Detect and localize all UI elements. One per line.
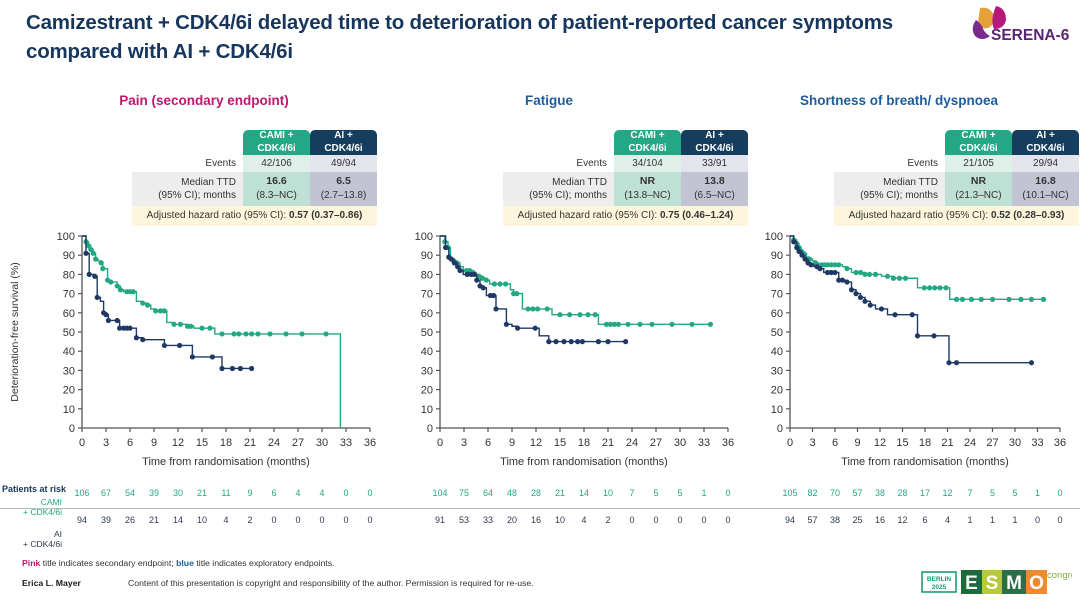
patients-at-risk-heading: Patients at risk <box>2 484 66 494</box>
risk-count: 67 <box>95 488 117 498</box>
svg-text:10: 10 <box>421 404 433 416</box>
median-ttd-label: Median TTD (95% CI); months <box>503 172 614 206</box>
svg-text:congress: congress <box>1047 570 1072 581</box>
km-plot-pain: 0102030405060708090100036912151821242730… <box>0 228 392 478</box>
risk-count: 17 <box>914 488 936 498</box>
svg-text:20: 20 <box>771 385 783 397</box>
risk-table-dyspnoea: 1058270573828171275510 94573825161264111… <box>734 482 1080 534</box>
svg-text:18: 18 <box>919 437 931 449</box>
risk-count: 57 <box>802 515 824 525</box>
panel-title-dyspnoea: Shortness of breath/ dyspnoea <box>726 93 1072 108</box>
risk-count: 0 <box>263 515 285 525</box>
risk-count: 11 <box>215 488 237 498</box>
risk-count: 57 <box>847 488 869 498</box>
stats-table-dyspnoea: CAMI + CDK4/6i AI + CDK4/6i Events 21/10… <box>834 130 1079 226</box>
svg-text:30: 30 <box>316 437 328 449</box>
events-ai: 29/94 <box>1012 155 1079 172</box>
table-corner <box>132 130 243 155</box>
svg-text:80: 80 <box>771 269 783 281</box>
svg-text:80: 80 <box>63 269 75 281</box>
risk-count: 0 <box>1027 515 1049 525</box>
risk-count: 1 <box>1027 488 1049 498</box>
risk-row-ai: 9153332016104200000 <box>378 508 748 534</box>
svg-text:36: 36 <box>364 437 376 449</box>
risk-count: 30 <box>167 488 189 498</box>
svg-text:100: 100 <box>415 231 433 243</box>
svg-text:15: 15 <box>896 437 908 449</box>
risk-count: 1 <box>982 515 1004 525</box>
km-plot-dyspnoea: 0102030405060708090100036912151821242730… <box>734 228 1080 478</box>
svg-text:33: 33 <box>698 437 710 449</box>
page-title: Camizestrant + CDK4/6i delayed time to d… <box>26 8 946 66</box>
header-ai: AI + CDK4/6i <box>310 130 377 155</box>
svg-text:40: 40 <box>421 346 433 358</box>
svg-text:21: 21 <box>602 437 614 449</box>
risk-count: 21 <box>191 488 213 498</box>
svg-text:30: 30 <box>421 365 433 377</box>
risk-count: 0 <box>669 515 691 525</box>
events-cami: 34/104 <box>614 155 681 172</box>
risk-count: 0 <box>311 515 333 525</box>
risk-count: 0 <box>693 515 715 525</box>
risk-count: 106 <box>71 488 93 498</box>
risk-count: 28 <box>892 488 914 498</box>
svg-text:18: 18 <box>220 437 232 449</box>
risk-count: 64 <box>477 488 499 498</box>
svg-text:24: 24 <box>268 437 280 449</box>
svg-text:15: 15 <box>196 437 208 449</box>
risk-count: 9 <box>239 488 261 498</box>
risk-table-fatigue: 1047564482821141075510 91533320161042000… <box>378 482 748 534</box>
events-ai: 49/94 <box>310 155 377 172</box>
svg-text:0: 0 <box>79 437 85 449</box>
table-corner <box>503 130 614 155</box>
svg-text:BERLIN: BERLIN <box>927 576 952 583</box>
svg-text:36: 36 <box>1054 437 1066 449</box>
svg-text:60: 60 <box>771 308 783 320</box>
risk-row-ai: 9457382516126411100 <box>734 508 1080 534</box>
svg-text:2025: 2025 <box>932 584 947 591</box>
median-cami: NR (21.3–NC) <box>945 172 1012 206</box>
svg-text:18: 18 <box>578 437 590 449</box>
esmo-congress-logo: BERLIN 2025 E S M O congress <box>920 566 1072 598</box>
risk-count: 10 <box>597 488 619 498</box>
svg-text:27: 27 <box>650 437 662 449</box>
svg-text:Time from randomisation (month: Time from randomisation (months) <box>841 456 1009 468</box>
risk-count: 6 <box>263 488 285 498</box>
risk-count: 39 <box>95 515 117 525</box>
svg-text:10: 10 <box>771 404 783 416</box>
hazard-ratio-value: 0.75 (0.46–1.24) <box>660 210 733 221</box>
svg-text:0: 0 <box>69 423 75 435</box>
svg-text:3: 3 <box>809 437 815 449</box>
panel-title-fatigue: Fatigue <box>364 93 734 108</box>
author-copyright-line: Erica L. MayerContent of this presentati… <box>22 578 534 588</box>
risk-count: 7 <box>959 488 981 498</box>
footnote-pink-word: Pink <box>22 558 40 568</box>
svg-text:20: 20 <box>63 385 75 397</box>
risk-count: 70 <box>824 488 846 498</box>
risk-count: 5 <box>645 488 667 498</box>
risk-count: 4 <box>215 515 237 525</box>
hazard-ratio-value: 0.52 (0.28–0.93) <box>991 210 1064 221</box>
svg-text:3: 3 <box>103 437 109 449</box>
hazard-ratio-cell: Adjusted hazard ratio (95% CI): 0.52 (0.… <box>834 206 1079 226</box>
footnote-legend: Pink title indicates secondary endpoint;… <box>22 558 334 568</box>
risk-count: 0 <box>645 515 667 525</box>
svg-text:27: 27 <box>986 437 998 449</box>
svg-text:20: 20 <box>421 385 433 397</box>
svg-text:9: 9 <box>151 437 157 449</box>
risk-count: 20 <box>501 515 523 525</box>
median-ai: 6.5 (2.7–13.8) <box>310 172 377 206</box>
header-cami: CAMI + CDK4/6i <box>243 130 310 155</box>
risk-count: 5 <box>982 488 1004 498</box>
risk-count: 0 <box>335 488 357 498</box>
risk-count: 12 <box>892 515 914 525</box>
svg-text:90: 90 <box>421 250 433 262</box>
table-row-hazard-ratio: Adjusted hazard ratio (95% CI): 0.52 (0.… <box>834 206 1079 226</box>
svg-text:Time from randomisation (month: Time from randomisation (months) <box>142 456 310 468</box>
risk-count: 2 <box>239 515 261 525</box>
risk-count: 26 <box>119 515 141 525</box>
stats-table-fatigue: CAMI + CDK4/6i AI + CDK4/6i Events 34/10… <box>503 130 748 226</box>
risk-count: 48 <box>501 488 523 498</box>
svg-text:6: 6 <box>832 437 838 449</box>
chart-panel-pain: Pain (secondary endpoint) CAMI + CDK4/6i… <box>0 90 392 510</box>
svg-text:100: 100 <box>765 231 783 243</box>
risk-count: 4 <box>311 488 333 498</box>
svg-text:12: 12 <box>172 437 184 449</box>
events-cami: 42/106 <box>243 155 310 172</box>
risk-side-label-cami: CAMI + CDK4/6i <box>0 498 62 518</box>
svg-text:10: 10 <box>63 404 75 416</box>
risk-count: 105 <box>779 488 801 498</box>
svg-text:90: 90 <box>771 250 783 262</box>
svg-text:40: 40 <box>63 346 75 358</box>
risk-count: 1 <box>693 488 715 498</box>
header-cami: CAMI + CDK4/6i <box>945 130 1012 155</box>
svg-text:27: 27 <box>292 437 304 449</box>
risk-count: 16 <box>869 515 891 525</box>
risk-count: 91 <box>429 515 451 525</box>
svg-text:0: 0 <box>787 437 793 449</box>
risk-count: 54 <box>119 488 141 498</box>
risk-row-cami: 1058270573828171275510 <box>734 482 1080 508</box>
risk-count: 94 <box>71 515 93 525</box>
svg-text:70: 70 <box>63 289 75 301</box>
author-name: Erica L. Mayer <box>22 578 128 588</box>
svg-text:70: 70 <box>421 289 433 301</box>
table-corner <box>834 130 945 155</box>
risk-count: 21 <box>143 515 165 525</box>
risk-side-label-ai: AI + CDK4/6i <box>0 530 62 550</box>
svg-text:60: 60 <box>63 308 75 320</box>
risk-count: 75 <box>453 488 475 498</box>
risk-count: 0 <box>335 515 357 525</box>
svg-text:36: 36 <box>722 437 734 449</box>
risk-count: 10 <box>191 515 213 525</box>
risk-count: 0 <box>1049 515 1071 525</box>
svg-text:50: 50 <box>771 327 783 339</box>
svg-text:9: 9 <box>509 437 515 449</box>
median-cami: NR (13.8–NC) <box>614 172 681 206</box>
risk-count: 53 <box>453 515 475 525</box>
svg-text:21: 21 <box>941 437 953 449</box>
risk-count: 5 <box>669 488 691 498</box>
events-cami: 21/105 <box>945 155 1012 172</box>
risk-count: 7 <box>621 488 643 498</box>
risk-count: 39 <box>143 488 165 498</box>
risk-count: 94 <box>779 515 801 525</box>
svg-text:12: 12 <box>874 437 886 449</box>
svg-text:70: 70 <box>771 289 783 301</box>
svg-text:60: 60 <box>421 308 433 320</box>
risk-count: 25 <box>847 515 869 525</box>
svg-text:24: 24 <box>626 437 638 449</box>
risk-count: 0 <box>621 515 643 525</box>
hazard-ratio-cell: Adjusted hazard ratio (95% CI): 0.57 (0.… <box>132 206 377 226</box>
median-cami: 16.6 (8.3–NC) <box>243 172 310 206</box>
panel-title-pain: Pain (secondary endpoint) <box>8 93 400 108</box>
svg-text:0: 0 <box>777 423 783 435</box>
median-ai: 16.8 (10.1–NC) <box>1012 172 1079 206</box>
svg-text:90: 90 <box>63 250 75 262</box>
table-row-hazard-ratio: Adjusted hazard ratio (95% CI): 0.75 (0.… <box>503 206 748 226</box>
km-plot-fatigue: 0102030405060708090100036912151821242730… <box>378 228 748 478</box>
svg-text:21: 21 <box>244 437 256 449</box>
risk-count: 38 <box>869 488 891 498</box>
chart-panel-dyspnoea: Shortness of breath/ dyspnoea CAMI + CDK… <box>734 90 1080 510</box>
risk-count: 33 <box>477 515 499 525</box>
footnote-blue-word: blue <box>176 558 194 568</box>
table-row-events: Events 34/104 33/91 <box>503 155 748 172</box>
header-cami: CAMI + CDK4/6i <box>614 130 681 155</box>
risk-count: 104 <box>429 488 451 498</box>
svg-text:6: 6 <box>485 437 491 449</box>
risk-count: 4 <box>937 515 959 525</box>
risk-count: 5 <box>1004 488 1026 498</box>
risk-count: 14 <box>167 515 189 525</box>
risk-count: 16 <box>525 515 547 525</box>
hazard-ratio-value: 0.57 (0.37–0.86) <box>289 210 362 221</box>
risk-count: 2 <box>597 515 619 525</box>
median-ttd-label: Median TTD (95% CI); months <box>132 172 243 206</box>
risk-count: 21 <box>549 488 571 498</box>
serena-6-logo: SERENA-6 <box>966 2 1074 50</box>
chart-panel-fatigue: Fatigue CAMI + CDK4/6i AI + CDK4/6i Ev <box>378 90 748 510</box>
svg-text:0: 0 <box>437 437 443 449</box>
svg-text:M: M <box>1006 573 1022 594</box>
svg-text:E: E <box>965 573 978 594</box>
risk-count: 1 <box>959 515 981 525</box>
svg-text:15: 15 <box>554 437 566 449</box>
svg-text:Time from randomisation (month: Time from randomisation (months) <box>500 456 668 468</box>
risk-count: 38 <box>824 515 846 525</box>
slide-root: Camizestrant + CDK4/6i delayed time to d… <box>0 0 1080 603</box>
svg-text:6: 6 <box>127 437 133 449</box>
risk-count: 4 <box>287 488 309 498</box>
table-row-hazard-ratio: Adjusted hazard ratio (95% CI): 0.57 (0.… <box>132 206 377 226</box>
table-row-median: Median TTD (95% CI); months NR (21.3–NC)… <box>834 172 1079 206</box>
svg-text:Deterioration-free survival (%: Deterioration-free survival (%) <box>9 262 21 401</box>
svg-text:30: 30 <box>674 437 686 449</box>
svg-text:40: 40 <box>771 346 783 358</box>
risk-count: 4 <box>573 515 595 525</box>
svg-text:50: 50 <box>421 327 433 339</box>
risk-count: 14 <box>573 488 595 498</box>
header-ai: AI + CDK4/6i <box>1012 130 1079 155</box>
svg-text:S: S <box>986 573 999 594</box>
table-row-median: Median TTD (95% CI); months NR (13.8–NC)… <box>503 172 748 206</box>
risk-count: 10 <box>549 515 571 525</box>
risk-count: 28 <box>525 488 547 498</box>
svg-text:100: 100 <box>57 231 75 243</box>
risk-count: 0 <box>287 515 309 525</box>
svg-text:30: 30 <box>771 365 783 377</box>
risk-count: 6 <box>914 515 936 525</box>
svg-text:3: 3 <box>461 437 467 449</box>
risk-count: 12 <box>937 488 959 498</box>
footnote-mid: title indicates secondary endpoint; <box>40 558 176 568</box>
table-row-median: Median TTD (95% CI); months 16.6 (8.3–NC… <box>132 172 377 206</box>
svg-text:24: 24 <box>964 437 976 449</box>
svg-text:9: 9 <box>854 437 860 449</box>
table-row-events: Events 21/105 29/94 <box>834 155 1079 172</box>
svg-text:SERENA-6: SERENA-6 <box>991 27 1070 44</box>
copyright-text: Content of this presentation is copyrigh… <box>128 578 534 588</box>
stats-table-pain: CAMI + CDK4/6i AI + CDK4/6i Events 42/10… <box>132 130 377 226</box>
hazard-ratio-cell: Adjusted hazard ratio (95% CI): 0.75 (0.… <box>503 206 748 226</box>
svg-text:50: 50 <box>63 327 75 339</box>
median-ttd-label: Median TTD (95% CI); months <box>834 172 945 206</box>
svg-text:80: 80 <box>421 269 433 281</box>
risk-count: 0 <box>1049 488 1071 498</box>
risk-row-cami: 1047564482821141075510 <box>378 482 748 508</box>
svg-text:30: 30 <box>63 365 75 377</box>
svg-text:30: 30 <box>1009 437 1021 449</box>
risk-count: 82 <box>802 488 824 498</box>
svg-text:33: 33 <box>340 437 352 449</box>
table-row-events: Events 42/106 49/94 <box>132 155 377 172</box>
svg-text:33: 33 <box>1031 437 1043 449</box>
svg-text:O: O <box>1029 573 1044 594</box>
svg-text:0: 0 <box>427 423 433 435</box>
risk-count: 1 <box>1004 515 1026 525</box>
footnote-end: title indicates exploratory endpoints. <box>194 558 335 568</box>
svg-text:12: 12 <box>530 437 542 449</box>
